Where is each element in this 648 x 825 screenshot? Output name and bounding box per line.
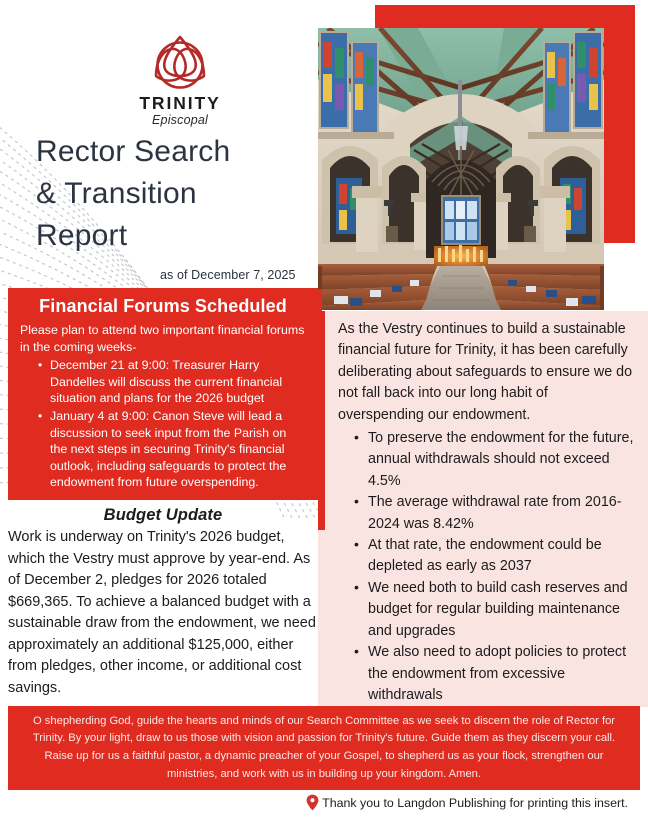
page-title-line-3: Report — [36, 215, 326, 257]
trinity-episcopal-logo: TRINITY Episcopal — [128, 32, 232, 127]
financial-forums-title: Financial Forums Scheduled — [20, 294, 306, 318]
vestry-panel-red-edge — [318, 311, 325, 530]
location-pin-icon — [306, 794, 319, 811]
vestry-endowment-panel: As the Vestry continues to build a susta… — [318, 311, 648, 707]
church-nave-interior-photo — [318, 28, 604, 310]
prayer-footer-panel: O shepherding God, guide the hearts and … — [8, 706, 640, 790]
logo-wordmark: TRINITY — [128, 95, 232, 113]
list-item: January 4 at 9:00: Canon Steve will lead… — [40, 408, 306, 491]
vestry-intro-text: As the Vestry continues to build a susta… — [338, 319, 634, 426]
vestry-safeguards-list: To preserve the endowment for the future… — [338, 428, 634, 706]
printing-credit: Thank you to Langdon Publishing for prin… — [0, 794, 640, 811]
budget-update-body: Work is underway on Trinity's 2026 budge… — [8, 527, 318, 699]
budget-update-section: Budget Update Work is underway on Trinit… — [8, 506, 318, 699]
list-item: To preserve the endowment for the future… — [356, 428, 634, 492]
printing-credit-text: Thank you to Langdon Publishing for prin… — [322, 796, 628, 810]
financial-forums-list: December 21 at 9:00: Treasurer Harry Dan… — [20, 357, 306, 491]
budget-update-title: Budget Update — [8, 506, 318, 525]
financial-forums-panel: Financial Forums Scheduled Please plan t… — [8, 288, 318, 500]
report-date: as of December 7, 2025 — [160, 268, 296, 282]
page-title-line-2: & Transition — [36, 173, 326, 215]
list-item: We also need to adopt policies to protec… — [356, 642, 634, 706]
page-title-line-1: Rector Search — [36, 131, 326, 173]
financial-forums-intro: Please plan to attend two important fina… — [20, 322, 306, 355]
report-header: TRINITY Episcopal Rector Search & Transi… — [0, 0, 330, 292]
list-item: At that rate, the endowment could be dep… — [356, 535, 634, 578]
page-title: Rector Search & Transition Report — [36, 131, 326, 257]
prayer-text: O shepherding God, guide the hearts and … — [30, 713, 618, 783]
list-item: December 21 at 9:00: Treasurer Harry Dan… — [40, 357, 306, 407]
trinity-knot-icon — [144, 32, 216, 94]
logo-sub-wordmark: Episcopal — [128, 114, 232, 128]
list-item: The average withdrawal rate from 2016-20… — [356, 492, 634, 535]
list-item: We need both to build cash reserves and … — [356, 578, 634, 642]
